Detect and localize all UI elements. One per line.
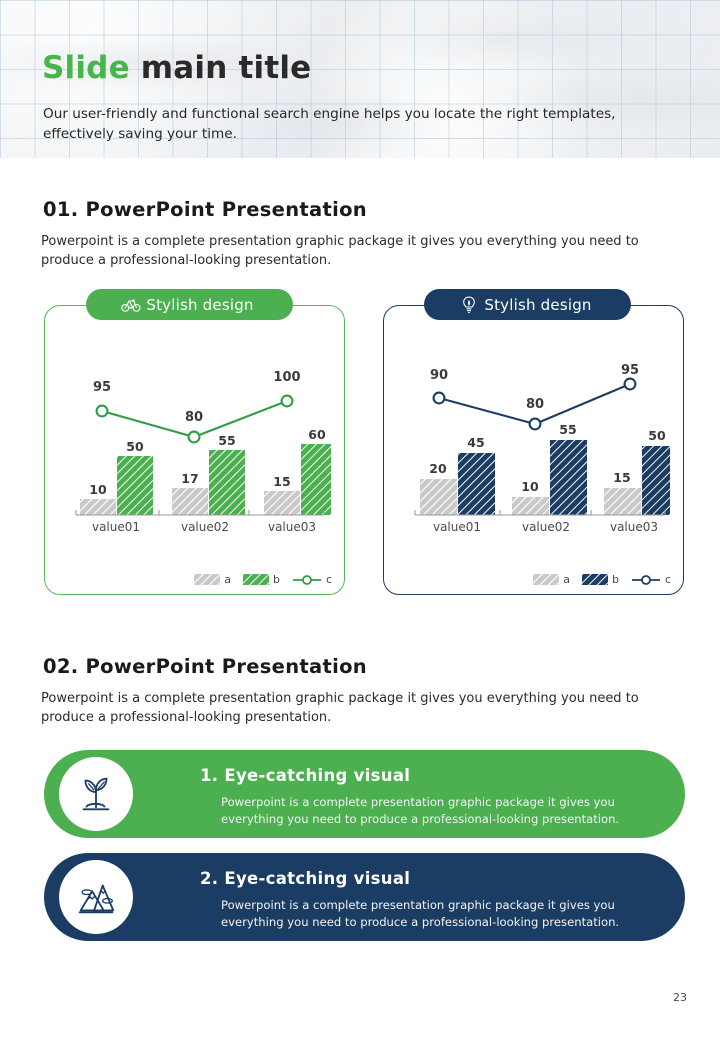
svg-text:value01: value01 bbox=[92, 520, 140, 534]
page-title: Slide main title bbox=[42, 50, 311, 86]
feature-1-text: Powerpoint is a complete presentation gr… bbox=[221, 794, 651, 827]
slide: Slide main title Our user-friendly and f… bbox=[0, 0, 720, 1040]
page-title-accent: Slide bbox=[42, 50, 130, 86]
section-1-title: 01. PowerPoint Presentation bbox=[43, 198, 367, 221]
legend-label-a: a bbox=[563, 573, 570, 586]
legend-item-c: c bbox=[631, 573, 671, 586]
chart-card-green: Stylish design 95 80 100 bbox=[44, 305, 345, 595]
svg-text:50: 50 bbox=[126, 439, 144, 454]
feature-2-number: 2. bbox=[200, 869, 218, 888]
legend-item-a: a bbox=[533, 573, 570, 586]
svg-text:10: 10 bbox=[89, 482, 107, 497]
legend-swatch-c bbox=[631, 574, 661, 586]
svg-text:50: 50 bbox=[648, 428, 666, 443]
svg-text:15: 15 bbox=[273, 474, 290, 489]
legend-label-a: a bbox=[224, 573, 231, 586]
page-subtitle: Our user-friendly and functional search … bbox=[43, 104, 683, 144]
chart-badge-navy-label: Stylish design bbox=[484, 296, 591, 314]
legend-label-c: c bbox=[326, 573, 332, 586]
svg-text:value02: value02 bbox=[522, 520, 570, 534]
sprout-icon bbox=[73, 771, 119, 817]
svg-text:17: 17 bbox=[181, 471, 198, 486]
svg-text:90: 90 bbox=[430, 368, 448, 383]
svg-text:60: 60 bbox=[308, 427, 326, 442]
chart-card-navy: Stylish design 90 80 95 bbox=[383, 305, 684, 595]
feature-1-title-text: Eye-catching visual bbox=[224, 766, 410, 785]
svg-text:15: 15 bbox=[613, 470, 630, 485]
bicycle-icon bbox=[121, 295, 141, 315]
feature-2-title-text: Eye-catching visual bbox=[224, 869, 410, 888]
svg-text:80: 80 bbox=[526, 397, 544, 412]
chart-green-svg: 95 80 100 10 50 17 55 bbox=[59, 336, 331, 551]
svg-text:value02: value02 bbox=[181, 520, 229, 534]
chart-green-legend: a b c bbox=[45, 573, 332, 586]
section-2-body: Powerpoint is a complete presentation gr… bbox=[41, 689, 686, 727]
feature-1-title: 1. Eye-catching visual bbox=[200, 766, 410, 785]
svg-text:10: 10 bbox=[521, 479, 539, 494]
svg-text:55: 55 bbox=[218, 433, 235, 448]
feature-item-1[interactable]: 1. Eye-catching visual Powerpoint is a c… bbox=[44, 750, 685, 838]
page-number: 23 bbox=[673, 991, 687, 1004]
legend-item-b: b bbox=[582, 573, 619, 586]
chart-badge-green[interactable]: Stylish design bbox=[86, 289, 293, 320]
chart-navy-svg: 90 80 95 20 45 10 55 15 bbox=[398, 336, 670, 551]
svg-text:45: 45 bbox=[467, 435, 484, 450]
legend-swatch-a bbox=[533, 574, 559, 585]
feature-2-icon-circle bbox=[59, 860, 133, 934]
mountains-icon bbox=[73, 874, 119, 920]
feature-2-text: Powerpoint is a complete presentation gr… bbox=[221, 897, 651, 930]
feature-1-icon-circle bbox=[59, 757, 133, 831]
legend-item-c: c bbox=[292, 573, 332, 586]
legend-swatch-a bbox=[194, 574, 220, 585]
legend-item-a: a bbox=[194, 573, 231, 586]
slide-header: Slide main title Our user-friendly and f… bbox=[0, 0, 720, 158]
svg-text:value03: value03 bbox=[610, 520, 658, 534]
legend-label-b: b bbox=[612, 573, 619, 586]
legend-swatch-c bbox=[292, 574, 322, 586]
chart-green-plot: 95 80 100 10 50 17 55 bbox=[59, 336, 331, 551]
feature-2-title: 2. Eye-catching visual bbox=[200, 869, 410, 888]
lightbulb-icon bbox=[459, 295, 479, 315]
svg-text:100: 100 bbox=[273, 370, 300, 385]
feature-1-number: 1. bbox=[200, 766, 218, 785]
section-1-body: Powerpoint is a complete presentation gr… bbox=[41, 232, 686, 270]
feature-item-2[interactable]: 2. Eye-catching visual Powerpoint is a c… bbox=[44, 853, 685, 941]
legend-label-b: b bbox=[273, 573, 280, 586]
page-title-rest: main title bbox=[130, 50, 312, 86]
svg-text:55: 55 bbox=[559, 422, 576, 437]
section-2-title: 02. PowerPoint Presentation bbox=[43, 655, 367, 678]
svg-text:95: 95 bbox=[621, 363, 639, 378]
svg-text:value03: value03 bbox=[268, 520, 316, 534]
legend-swatch-b bbox=[582, 574, 608, 585]
legend-label-c: c bbox=[665, 573, 671, 586]
svg-text:80: 80 bbox=[185, 410, 203, 425]
svg-text:20: 20 bbox=[429, 461, 447, 476]
chart-badge-green-label: Stylish design bbox=[146, 296, 253, 314]
svg-text:95: 95 bbox=[93, 380, 111, 395]
legend-item-b: b bbox=[243, 573, 280, 586]
chart-navy-plot: 90 80 95 20 45 10 55 15 bbox=[398, 336, 670, 551]
chart-badge-navy[interactable]: Stylish design bbox=[424, 289, 631, 320]
chart-navy-legend: a b c bbox=[384, 573, 671, 586]
svg-text:value01: value01 bbox=[433, 520, 481, 534]
legend-swatch-b bbox=[243, 574, 269, 585]
